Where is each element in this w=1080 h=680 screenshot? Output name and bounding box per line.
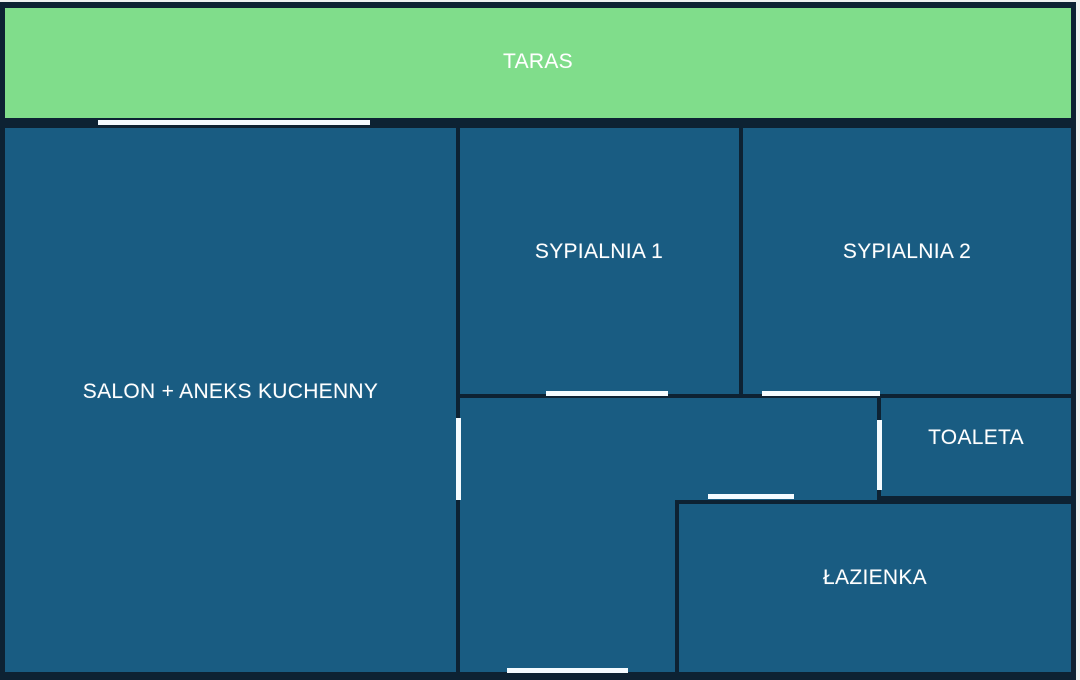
room-label-salon: SALON + ANEKS KUCHENNY: [5, 380, 456, 404]
partition-lazienka-left: [675, 500, 679, 676]
door-sypialnia-2[interactable]: [762, 391, 880, 396]
room-salon[interactable]: SALON + ANEKS KUCHENNY: [5, 128, 456, 672]
room-lazienka[interactable]: ŁAZIENKA: [679, 504, 1071, 672]
door-entrance[interactable]: [507, 668, 628, 673]
room-label-lazienka: ŁAZIENKA: [679, 566, 1071, 590]
room-label-sypialnia-1: SYPIALNIA 1: [459, 240, 739, 264]
partition-toaleta-bottom: [877, 496, 1074, 500]
room-toaleta[interactable]: TOALETA: [881, 398, 1071, 496]
door-toaleta[interactable]: [877, 420, 882, 490]
floor-plan: TARAS SALON + ANEKS KUCHENNY SYPIALNIA 1…: [0, 0, 1080, 680]
door-lazienka[interactable]: [708, 494, 794, 499]
room-label-sypialnia-2: SYPIALNIA 2: [743, 240, 1071, 264]
room-label-toaleta: TOALETA: [881, 426, 1071, 450]
partition-lazienka-top: [675, 500, 881, 504]
room-taras[interactable]: TARAS: [5, 8, 1071, 118]
door-sypialnia-1[interactable]: [546, 391, 668, 396]
door-salon[interactable]: [456, 418, 461, 500]
room-sypialnia-1[interactable]: SYPIALNIA 1: [459, 128, 739, 394]
room-label-taras: TARAS: [5, 50, 1071, 74]
partition-bedrooms: [739, 125, 743, 397]
partition-salon-right: [456, 125, 460, 675]
door-terrace[interactable]: [98, 120, 370, 125]
room-sypialnia-2[interactable]: SYPIALNIA 2: [743, 128, 1071, 394]
